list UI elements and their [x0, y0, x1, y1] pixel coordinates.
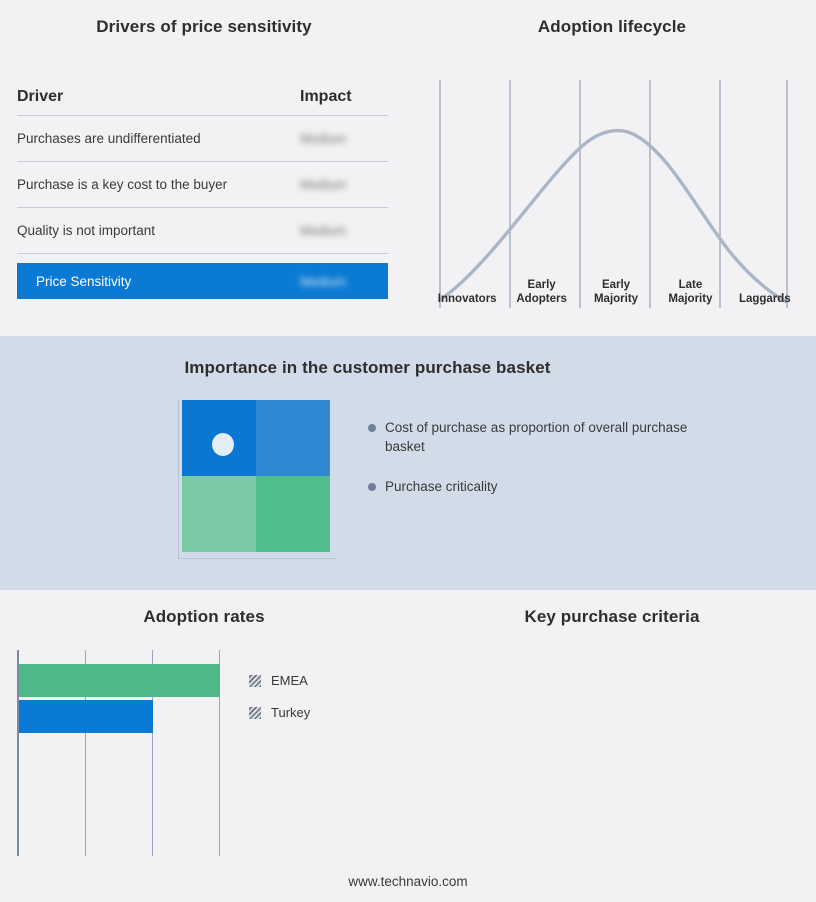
- adoption-legend: EMEA Turkey: [249, 650, 389, 856]
- column-header-impact: Impact: [300, 88, 388, 106]
- summary-impact-value: Medium: [300, 274, 388, 289]
- key-purchase-criteria-panel: Key purchase criteria Innovation Price: [408, 590, 816, 902]
- impact-value: Medium: [300, 131, 388, 146]
- hatch-swatch-icon: [249, 707, 261, 719]
- table-row: Purchases are undifferentiated Medium: [17, 116, 388, 162]
- quadrant-top-right: [256, 400, 330, 476]
- legend-label: Cost of purchase as proportion of overal…: [385, 418, 688, 456]
- footer-url: www.technavio.com: [0, 874, 816, 889]
- importance-legend: Cost of purchase as proportion of overal…: [368, 418, 688, 517]
- stage-line1: Early: [579, 278, 653, 292]
- adoption-rates-panel: Adoption rates EMEA Turkey: [0, 590, 408, 902]
- legend-label: Turkey: [271, 705, 310, 720]
- stage-line1: Late: [653, 278, 727, 292]
- bullet-icon: [368, 424, 376, 432]
- table-header-row: Driver Impact: [17, 88, 388, 116]
- stage-line2: Laggards: [728, 292, 802, 306]
- bullet-icon: [368, 483, 376, 491]
- lifecycle-stage-early-majority: Early Majority: [579, 266, 653, 308]
- drivers-table: Driver Impact Purchases are undifferenti…: [17, 88, 388, 299]
- lifecycle-stage-innovators: Innovators: [430, 266, 504, 308]
- key-purchase-criteria-title: Key purchase criteria: [408, 607, 816, 627]
- importance-title: Importance in the customer purchase bask…: [0, 358, 735, 378]
- summary-label: Price Sensitivity: [36, 274, 300, 289]
- impact-value: Medium: [300, 223, 388, 238]
- stage-line2: Majority: [579, 292, 653, 306]
- table-row: Quality is not important Medium: [17, 208, 388, 254]
- quadrant-bottom-right: [256, 476, 330, 552]
- quadrant-grid: [182, 400, 330, 552]
- lifecycle-stage-late-majority: Late Majority: [653, 266, 727, 308]
- data-point-marker: [212, 433, 234, 456]
- lifecycle-panel: Adoption lifecycle Innovators Early Adop…: [408, 0, 816, 336]
- quadrant-chart: [182, 400, 337, 558]
- drivers-panel: Drivers of price sensitivity Driver Impa…: [0, 0, 408, 336]
- lifecycle-stage-laggards: Laggards: [728, 266, 802, 308]
- driver-label: Quality is not important: [17, 223, 300, 238]
- adoption-rates-title: Adoption rates: [0, 607, 408, 627]
- lifecycle-title: Adoption lifecycle: [408, 17, 816, 37]
- bar-turkey: [19, 700, 153, 733]
- legend-item-emea: EMEA: [249, 673, 308, 688]
- quadrant-top-left: [182, 400, 256, 476]
- lifecycle-stage-labels: Innovators Early Adopters Early Majority…: [430, 266, 802, 308]
- quadrant-y-axis: [178, 400, 179, 558]
- quadrant-x-axis: [178, 558, 337, 559]
- price-sensitivity-summary-row: Price Sensitivity Medium: [17, 263, 388, 299]
- stage-line1: Early: [504, 278, 578, 292]
- stage-line2: Innovators: [430, 292, 504, 306]
- column-header-driver: Driver: [17, 88, 300, 106]
- quadrant-bottom-left: [182, 476, 256, 552]
- legend-item: Cost of purchase as proportion of overal…: [368, 418, 688, 456]
- legend-item: Purchase criticality: [368, 477, 688, 496]
- adoption-plot-area: [17, 650, 221, 856]
- legend-label: Purchase criticality: [385, 477, 498, 496]
- stage-line2: Adopters: [504, 292, 578, 306]
- hatch-swatch-icon: [249, 675, 261, 687]
- stage-line2: Majority: [653, 292, 727, 306]
- importance-panel: Importance in the customer purchase bask…: [0, 336, 816, 590]
- legend-item-turkey: Turkey: [249, 705, 310, 720]
- legend-label: EMEA: [271, 673, 308, 688]
- table-row: Purchase is a key cost to the buyer Medi…: [17, 162, 388, 208]
- adoption-rates-chart: EMEA Turkey: [17, 650, 397, 856]
- impact-value: Medium: [300, 177, 388, 192]
- drivers-title: Drivers of price sensitivity: [0, 17, 408, 37]
- driver-label: Purchase is a key cost to the buyer: [17, 177, 300, 192]
- lifecycle-stage-early-adopters: Early Adopters: [504, 266, 578, 308]
- bar-emea: [19, 664, 220, 697]
- driver-label: Purchases are undifferentiated: [17, 131, 300, 146]
